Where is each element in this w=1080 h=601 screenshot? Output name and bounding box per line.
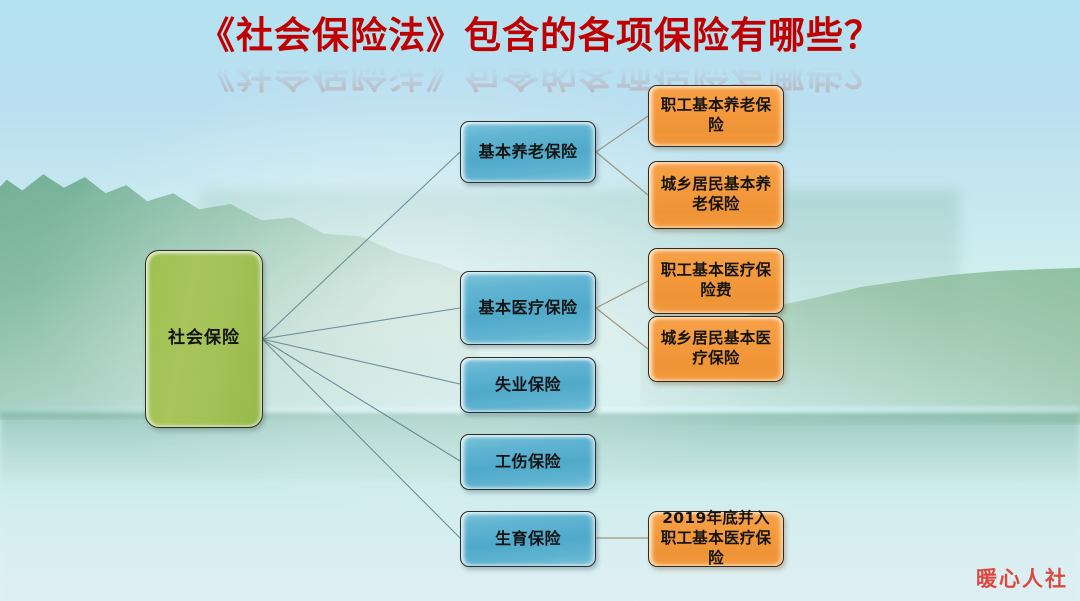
node-label: 工伤保险 bbox=[495, 452, 561, 472]
node-label: 失业保险 bbox=[495, 375, 561, 395]
node-unemployment-insurance[interactable]: 失业保险 bbox=[460, 357, 596, 413]
node-label: 基本养老保险 bbox=[478, 142, 577, 162]
link-medical-to-resident bbox=[596, 308, 648, 349]
node-basic-medical-insurance[interactable]: 基本医疗保险 bbox=[460, 271, 596, 345]
link-root-to-injury bbox=[262, 339, 460, 461]
slide-canvas: 《社会保险法》包含的各项保险有哪些？ 《社会保险法》包含的各项保险有哪些？ 社会… bbox=[0, 0, 1080, 601]
node-label: 职工基本医疗保险费 bbox=[657, 261, 775, 301]
node-label: 2019年底并入职工基本医疗保险 bbox=[657, 509, 775, 568]
node-root-label: 社会保险 bbox=[168, 328, 240, 350]
link-pension-to-resident bbox=[596, 152, 648, 195]
link-pension-to-employee bbox=[596, 116, 648, 152]
node-basic-pension-insurance[interactable]: 基本养老保险 bbox=[460, 121, 596, 183]
node-label: 城乡居民基本医疗保险 bbox=[657, 329, 775, 369]
node-social-insurance-root[interactable]: 社会保险 bbox=[145, 250, 263, 428]
node-label: 生育保险 bbox=[495, 529, 561, 549]
node-label: 职工基本养老保险 bbox=[657, 96, 775, 136]
node-work-injury-insurance[interactable]: 工伤保险 bbox=[460, 434, 596, 490]
node-employee-basic-medical[interactable]: 职工基本医疗保险费 bbox=[648, 248, 784, 314]
node-maternity-merged-2019[interactable]: 2019年底并入职工基本医疗保险 bbox=[648, 511, 784, 567]
node-resident-basic-pension[interactable]: 城乡居民基本养老保险 bbox=[648, 161, 784, 229]
node-employee-basic-pension[interactable]: 职工基本养老保险 bbox=[648, 85, 784, 147]
node-label: 基本医疗保险 bbox=[478, 298, 577, 318]
link-root-to-pension bbox=[262, 152, 460, 339]
node-resident-basic-medical[interactable]: 城乡居民基本医疗保险 bbox=[648, 316, 784, 382]
link-medical-to-employee bbox=[596, 281, 648, 308]
link-root-to-unemployment bbox=[262, 339, 460, 384]
link-root-to-maternity bbox=[262, 339, 460, 538]
link-root-to-medical bbox=[262, 308, 460, 339]
watermark-logo: 暖心人社 bbox=[976, 563, 1068, 593]
node-label: 城乡居民基本养老保险 bbox=[657, 175, 775, 215]
node-maternity-insurance[interactable]: 生育保险 bbox=[460, 511, 596, 567]
